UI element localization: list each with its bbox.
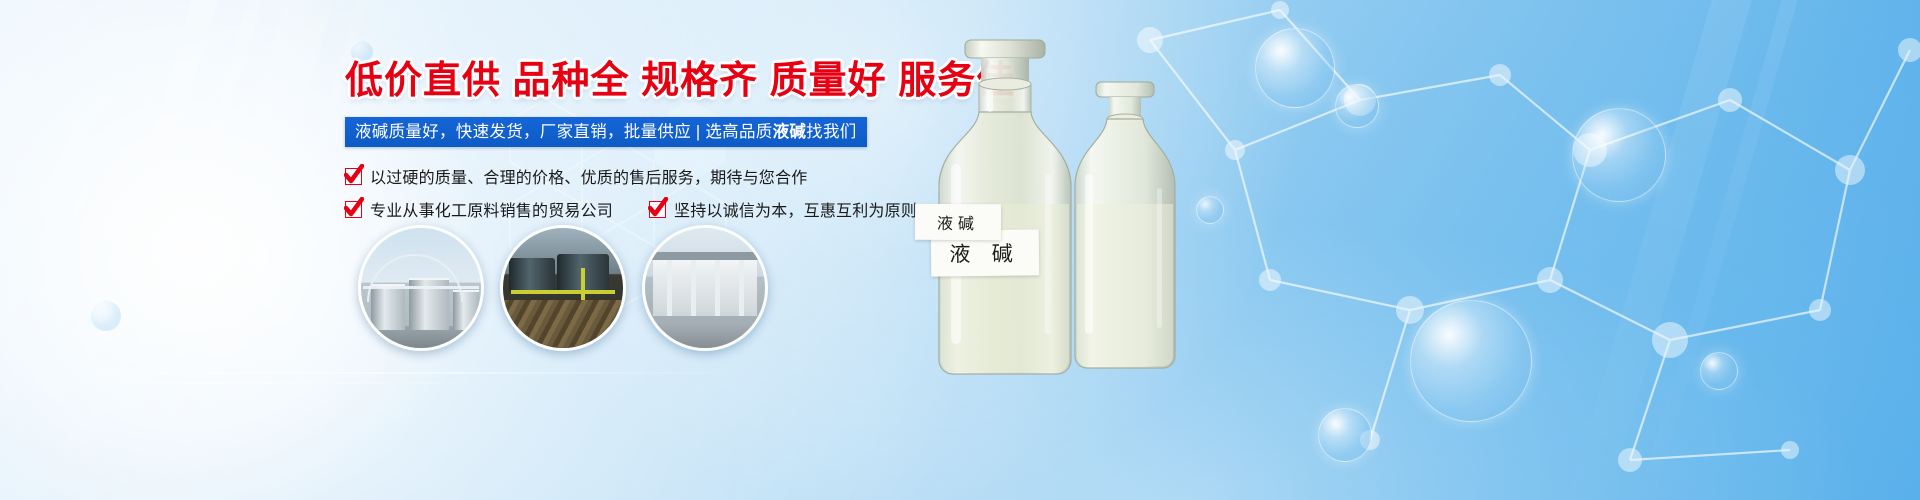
feature-text: 专业从事化工原料销售的贸易公司 xyxy=(370,197,613,221)
list-item: 坚持以诚信为本，互惠互利为原则 xyxy=(649,197,917,221)
photo-thumbnail-list xyxy=(358,225,768,351)
bubble-2 xyxy=(1335,84,1379,128)
subtitle-text-after: 找我们 xyxy=(806,123,856,141)
divider-line-bottom xyxy=(0,382,520,384)
check-icon xyxy=(649,201,666,218)
subtitle-bar: 液碱质量好，快速发货，厂家直销，批量供应 | 选高品质液碱找我们 xyxy=(345,117,867,147)
subtitle-text-before: 液碱质量好，快速发货，厂家直销，批量供应 | 选高品质 xyxy=(355,123,773,141)
check-icon xyxy=(345,201,362,218)
page-title: 低价直供 品种全 规格齐 质量好 服务佳 xyxy=(345,62,905,100)
bubble-8 xyxy=(90,300,122,332)
feature-text: 坚持以诚信为本，互惠互利为原则 xyxy=(674,197,917,221)
product-image-group: 液 碱 液碱 xyxy=(905,18,1245,488)
feature-text: 以过硬的质量、合理的价格、优质的售后服务，期待与您合作 xyxy=(370,164,807,188)
chemical-plant-photo xyxy=(500,225,626,351)
bubble-5 xyxy=(1318,408,1372,462)
small-reagent-bottle xyxy=(1065,78,1185,378)
small-bottle-label: 液碱 xyxy=(915,204,1001,241)
bubble-6 xyxy=(1700,352,1738,390)
subtitle-highlight: 液碱 xyxy=(773,123,807,141)
feature-row: 专业从事化工原料销售的贸易公司 坚持以诚信为本，互惠互利为原则 xyxy=(345,197,905,221)
list-item: 以过硬的质量、合理的价格、优质的售后服务，期待与您合作 xyxy=(345,164,807,188)
list-item: 专业从事化工原料销售的贸易公司 xyxy=(345,197,613,221)
feature-row: 以过硬的质量、合理的价格、优质的售后服务，期待与您合作 xyxy=(345,164,905,188)
storage-tank-farm-photo xyxy=(358,225,484,351)
bubble-4 xyxy=(1410,300,1532,422)
check-icon xyxy=(345,168,362,185)
bubble-1 xyxy=(1255,28,1335,108)
marketing-copy: 低价直供 品种全 规格齐 质量好 服务佳 液碱质量好，快速发货，厂家直销，批量供… xyxy=(345,62,905,230)
feature-list: 以过硬的质量、合理的价格、优质的售后服务，期待与您合作 专业从事化工原料销售的贸… xyxy=(345,164,905,221)
promo-banner: 低价直供 品种全 规格齐 质量好 服务佳 液碱质量好，快速发货，厂家直销，批量供… xyxy=(0,0,1920,500)
bubble-3 xyxy=(1572,108,1666,202)
warehouse-photo xyxy=(642,225,768,351)
